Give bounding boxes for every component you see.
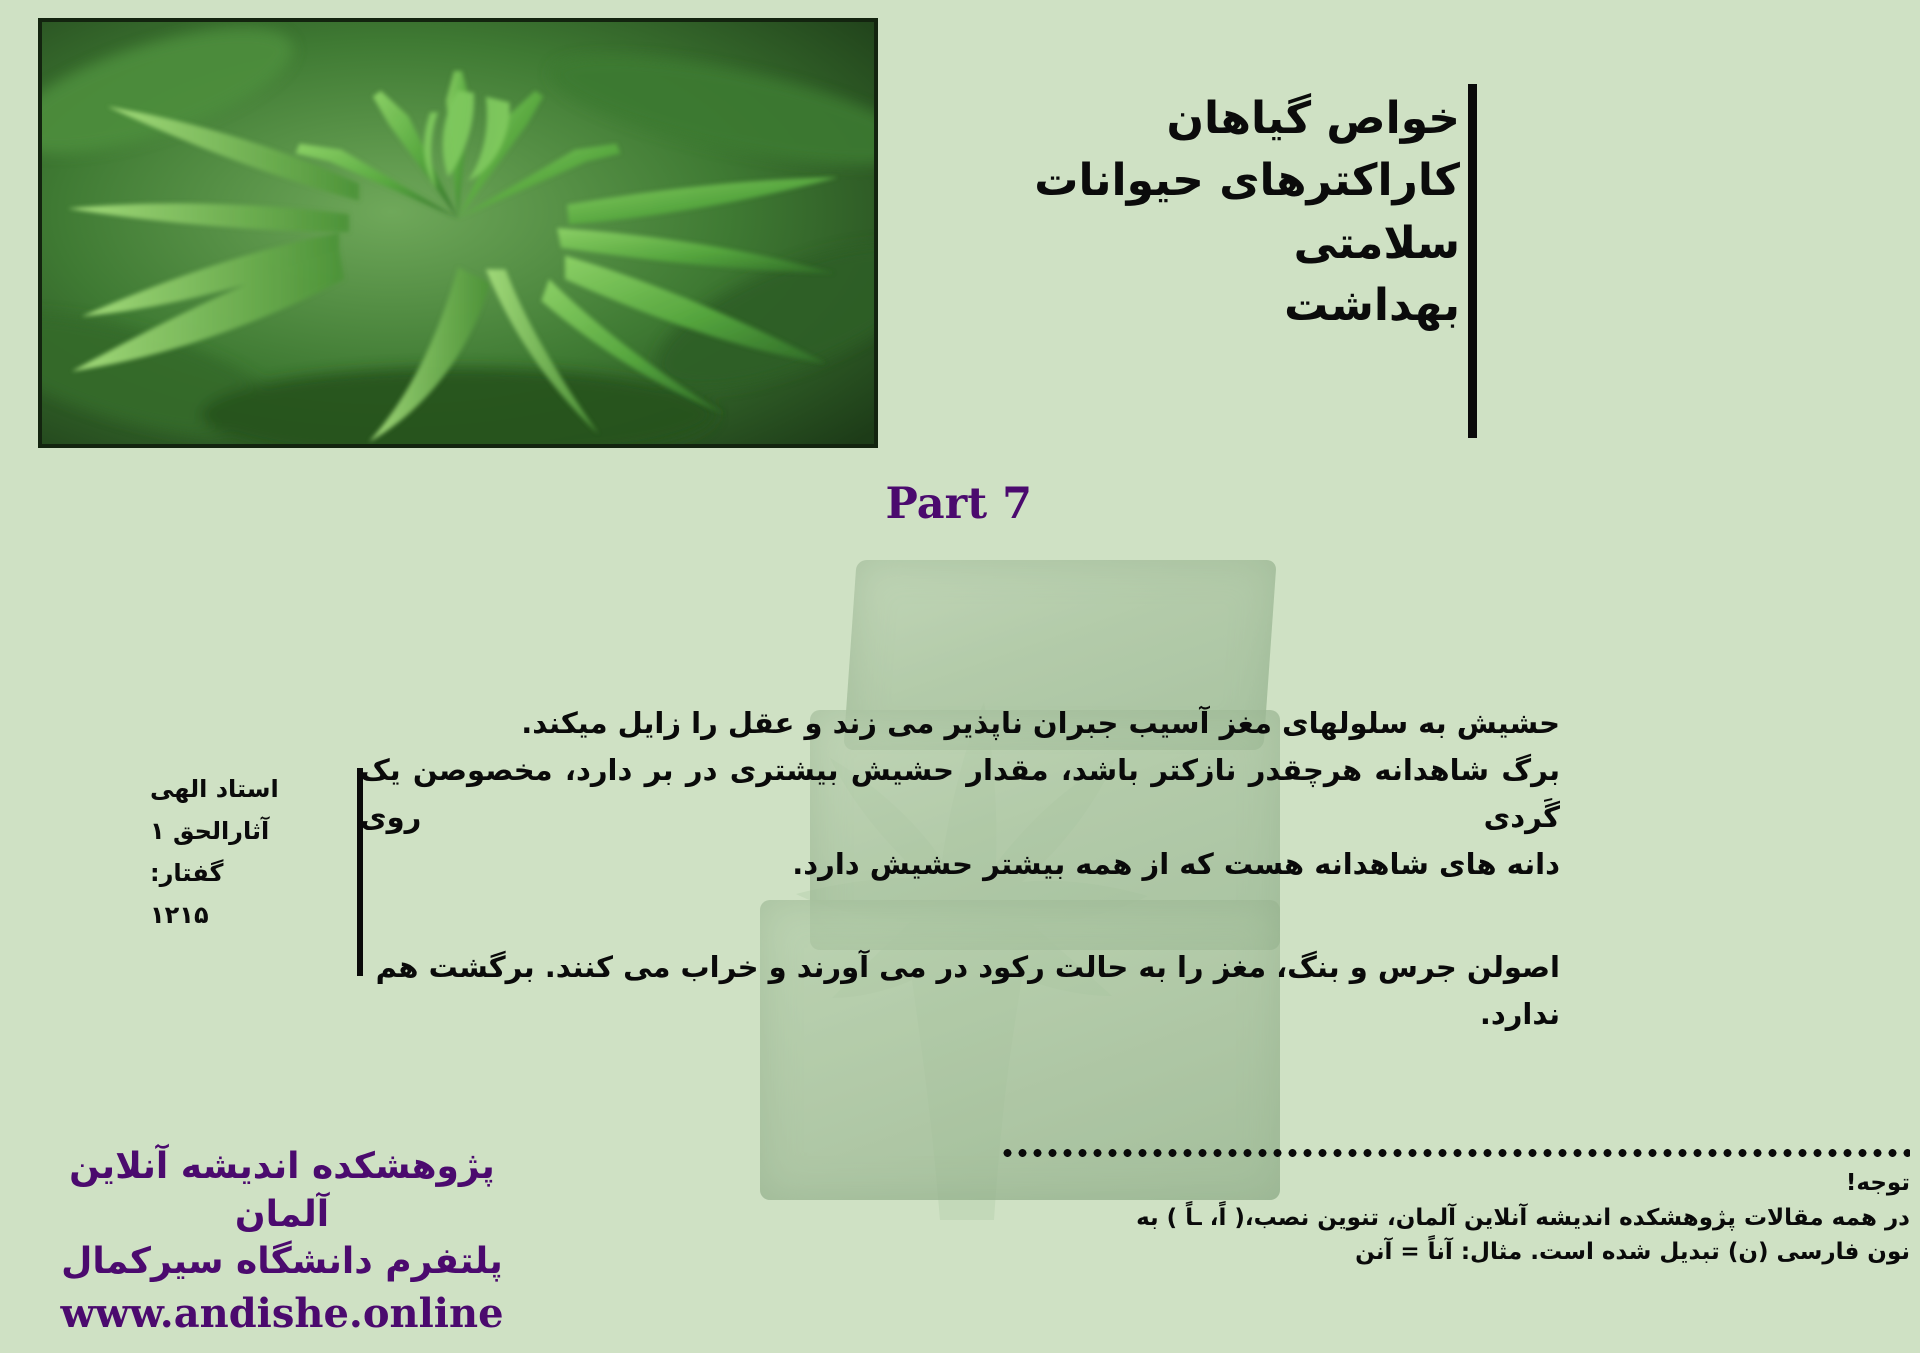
note-heading: توجه!: [1000, 1166, 1910, 1201]
platform-name: پلتفرم دانشگاه سیرکمال: [22, 1238, 542, 1286]
cannabis-photo-image: [42, 22, 874, 444]
title-line-1: خواص گیاهان: [820, 88, 1460, 150]
dotted-divider: [1000, 1148, 1910, 1158]
meta-line-discourse-number: ۱۲۱۵: [150, 894, 350, 936]
body-paragraph-1-line-1: حشیش به سلولهای مغز آسیب جبران ناپذیر می…: [360, 700, 1560, 747]
meta-line-discourse-label: گفتار:: [150, 852, 350, 894]
body-copy: حشیش به سلولهای مغز آسیب جبران ناپذیر می…: [360, 700, 1560, 1038]
part-label: Part 7: [886, 479, 1032, 529]
body-paragraph-1-line-2: برگ شاهدانه هرچقدر نازکتر باشد، مقدار حش…: [360, 747, 1560, 841]
website-url[interactable]: www.andishe.online: [22, 1288, 542, 1340]
cannabis-photo: [38, 18, 878, 448]
orthography-note: توجه! در همه مقالات پژوهشکده اندیشه آنلا…: [1000, 1148, 1910, 1270]
meta-line-author: استاد الهی: [150, 768, 350, 810]
slide-title: خواص گیاهان کاراکترهای حیوانات سلامتی به…: [820, 88, 1460, 338]
title-line-2: کاراکترهای حیوانات: [820, 150, 1460, 212]
body-paragraph-2: اصولن جرس و بنگ، مغز را به حالت رکود در …: [360, 944, 1560, 1038]
body-paragraph-1-line-3: دانه های شاهدانه هست که از همه بیشتر حشی…: [360, 841, 1560, 888]
meta-line-book: آثارالحق ۱: [150, 810, 350, 852]
source-metadata: استاد الهی آثارالحق ۱ گفتار: ۱۲۱۵: [150, 768, 350, 936]
title-line-4: بهداشت: [820, 275, 1460, 337]
note-line-1: در همه مقالات پژوهشکده اندیشه آنلاین آلم…: [1000, 1201, 1910, 1236]
institute-footer: پژوهشکده اندیشه آنلاین آلمان پلتفرم دانش…: [22, 1143, 542, 1340]
note-line-2: نون فارسی (ن) تبدیل شده است. مثال: آناً …: [1000, 1235, 1910, 1270]
title-divider-bar: [1468, 84, 1477, 438]
institute-name: پژوهشکده اندیشه آنلاین آلمان: [22, 1143, 542, 1238]
title-line-3: سلامتی: [820, 213, 1460, 275]
